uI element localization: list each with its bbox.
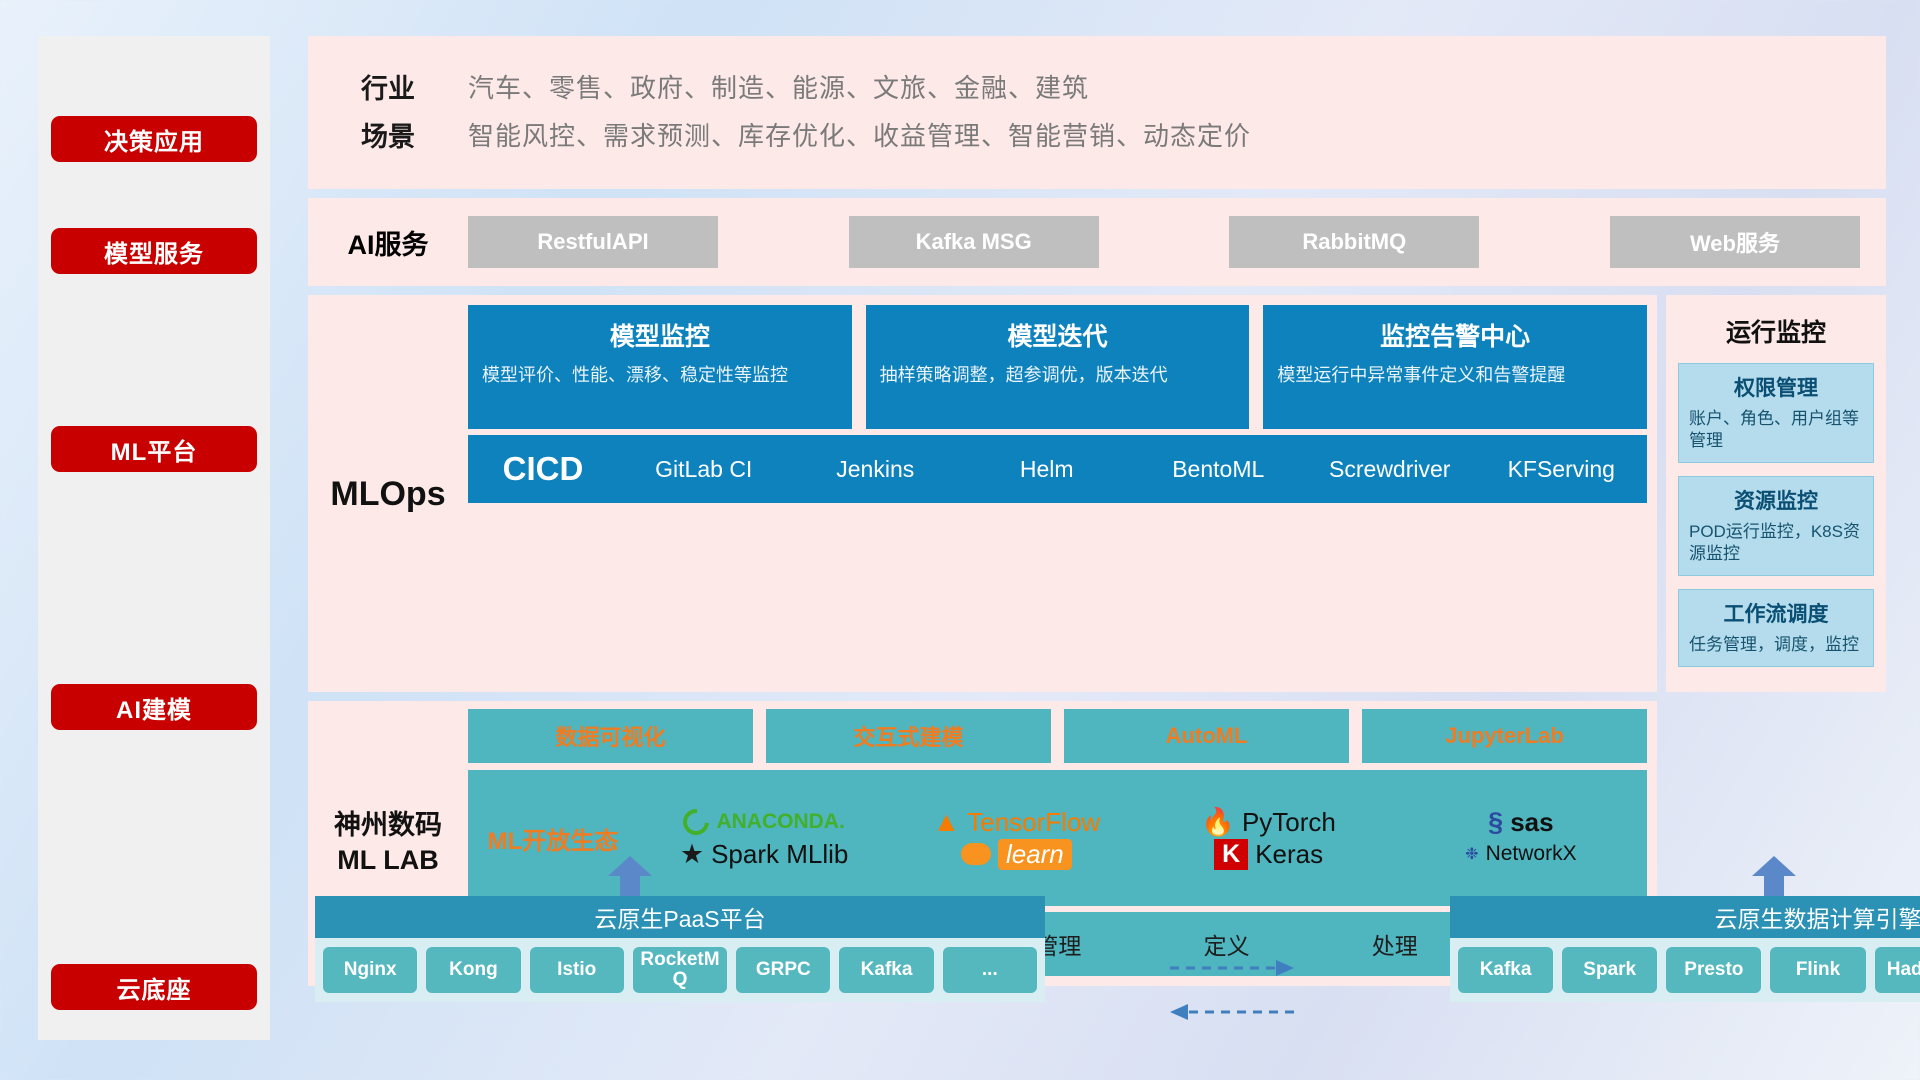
ai-service-chip[interactable]: RestfulAPI [468, 216, 718, 268]
mlops-card-desc: 抽样策略调整，超参调优，版本迭代 [880, 363, 1236, 387]
ml-ecosystem-label: ML开放生态 [468, 821, 638, 856]
layer-chip-label: ML平台 [111, 432, 198, 467]
ml-ecosystem-logo-grid: ANACONDA. ▲ TensorFlow 🔥 PyTorch § [638, 806, 1647, 870]
cicd-title: CICD [468, 450, 618, 488]
cloud-pill-kafka[interactable]: Kafka [839, 947, 933, 993]
monitor-card-desc: 账户、角色、用户组等管理 [1689, 408, 1863, 452]
anaconda-label: ANACONDA. [716, 810, 844, 834]
cloud-pill-hadoop[interactable]: Hadoop [1875, 947, 1920, 993]
ai-services-chip-list: RestfulAPI Kafka MSG RabbitMQ Web服务 [468, 216, 1886, 268]
up-arrow-icon-left [608, 856, 652, 898]
monitor-card-title: 资源监控 [1689, 485, 1863, 515]
mlops-band: MLOps 模型监控 模型评价、性能、漂移、稳定性等监控 模型迭代 抽样策略调整… [308, 295, 1657, 692]
decision-applications-band: 行业 汽车、零售、政府、制造、能源、文旅、金融、建筑 场景 智能风控、需求预测、… [308, 36, 1886, 189]
cicd-item[interactable]: Jenkins [790, 457, 962, 481]
tool-chip-automl[interactable]: AutoML [1064, 709, 1349, 763]
mlops-card-title: 监控告警中心 [1277, 317, 1633, 353]
cloud-data-engine-pill-list: Kafka Spark Presto Flink Hadoop Storm ..… [1450, 938, 1920, 1002]
mlops-label: MLOps [308, 305, 468, 684]
sas-label: sas [1510, 807, 1553, 838]
layer-chip-ml-platform[interactable]: ML平台 [51, 426, 257, 472]
mlops-card-model-monitoring[interactable]: 模型监控 模型评价、性能、漂移、稳定性等监控 [468, 305, 852, 429]
tensorflow-label: TensorFlow [967, 807, 1100, 838]
tool-chip-jupyterlab[interactable]: JupyterLab [1362, 709, 1647, 763]
bidirectional-dashed-arrows-icon [1168, 954, 1296, 1024]
monitor-card-desc: POD运行监控，K8S资源监控 [1689, 521, 1863, 565]
ai-service-chip[interactable]: Web服务 [1610, 216, 1860, 268]
mlops-card-alert-center[interactable]: 监控告警中心 模型运行中异常事件定义和告警提醒 [1263, 305, 1647, 429]
cloud-pill-spark[interactable]: Spark [1562, 947, 1657, 993]
cloud-paas-block: 云原生PaaS平台 Nginx Kong Istio RocketMQ GRPC… [315, 896, 1045, 1002]
cloud-pill-grpc[interactable]: GRPC [736, 947, 830, 993]
ai-service-chip[interactable]: RabbitMQ [1229, 216, 1479, 268]
cloud-data-engine-title: 云原生数据计算引擎 [1450, 896, 1920, 938]
mlops-row: MLOps 模型监控 模型评价、性能、漂移、稳定性等监控 模型迭代 抽样策略调整… [308, 295, 1886, 692]
cloud-pill-flink[interactable]: Flink [1770, 947, 1865, 993]
pytorch-logo[interactable]: 🔥 PyTorch [1143, 806, 1395, 838]
cloud-pill-rocketmq[interactable]: RocketMQ [633, 947, 727, 993]
monitor-card-desc: 任务管理，调度，监控 [1689, 634, 1863, 656]
industry-row: 行业 汽车、零售、政府、制造、能源、文旅、金融、建筑 [308, 67, 1886, 106]
layer-chip-label: 云底座 [117, 970, 192, 1005]
architecture-main: 行业 汽车、零售、政府、制造、能源、文旅、金融、建筑 场景 智能风控、需求预测、… [308, 36, 1886, 986]
cloud-pill-istio[interactable]: Istio [530, 947, 624, 993]
layer-chip-decision-apps[interactable]: 决策应用 [51, 116, 257, 162]
tool-chip-interactive-modeling[interactable]: 交互式建模 [766, 709, 1051, 763]
mlops-content: 模型监控 模型评价、性能、漂移、稳定性等监控 模型迭代 抽样策略调整，超参调优，… [468, 305, 1657, 684]
scenario-label: 场景 [308, 115, 468, 154]
tool-chip-data-visualization[interactable]: 数据可视化 [468, 709, 753, 763]
industry-list: 汽车、零售、政府、制造、能源、文旅、金融、建筑 [468, 68, 1089, 105]
layer-rail: 决策应用 模型服务 ML平台 AI建模 云底座 [38, 36, 270, 1040]
monitor-card-title: 工作流调度 [1689, 598, 1863, 628]
monitor-card-title: 权限管理 [1689, 372, 1863, 402]
tensorflow-logo[interactable]: ▲ TensorFlow [890, 806, 1142, 838]
cloud-paas-title: 云原生PaaS平台 [315, 896, 1045, 938]
cicd-item[interactable]: BentoML [1133, 457, 1305, 481]
cicd-item[interactable]: Helm [961, 457, 1133, 481]
cicd-item[interactable]: KFServing [1476, 457, 1648, 481]
pytorch-label: PyTorch [1242, 807, 1336, 838]
monitor-card-workflow[interactable]: 工作流调度 任务管理，调度，监控 [1678, 589, 1874, 667]
mlops-card-title: 模型迭代 [880, 317, 1236, 353]
mlops-card-list: 模型监控 模型评价、性能、漂移、稳定性等监控 模型迭代 抽样策略调整，超参调优，… [468, 305, 1647, 429]
mlops-card-model-iteration[interactable]: 模型迭代 抽样策略调整，超参调优，版本迭代 [866, 305, 1250, 429]
cloud-data-engine-block: 云原生数据计算引擎 Kafka Spark Presto Flink Hadoo… [1450, 896, 1920, 1002]
ai-service-chip[interactable]: Kafka MSG [849, 216, 1099, 268]
cloud-pill-presto[interactable]: Presto [1666, 947, 1761, 993]
monitor-card-permissions[interactable]: 权限管理 账户、角色、用户组等管理 [1678, 363, 1874, 463]
ai-services-label: AI服务 [308, 223, 468, 262]
modeling-tool-list: 数据可视化 交互式建模 AutoML JupyterLab [468, 709, 1647, 763]
scenario-row: 场景 智能风控、需求预测、库存优化、收益管理、智能营销、动态定价 [308, 115, 1886, 154]
runtime-monitoring-title: 运行监控 [1678, 313, 1874, 349]
cicd-bar: CICD GitLab CI Jenkins Helm BentoML Scre… [468, 435, 1647, 503]
cloud-foundation-section: 云原生PaaS平台 Nginx Kong Istio RocketMQ GRPC… [308, 862, 1886, 1040]
layer-chip-model-service[interactable]: 模型服务 [51, 228, 257, 274]
tensorflow-icon: ▲ [933, 806, 961, 838]
layer-chip-label: 决策应用 [104, 122, 204, 157]
cloud-paas-pill-list: Nginx Kong Istio RocketMQ GRPC Kafka ... [315, 938, 1045, 1002]
monitor-card-resources[interactable]: 资源监控 POD运行监控，K8S资源监控 [1678, 476, 1874, 576]
anaconda-logo[interactable]: ANACONDA. [638, 809, 890, 835]
cloud-pill-more[interactable]: ... [943, 947, 1037, 993]
mlops-card-title: 模型监控 [482, 317, 838, 353]
pytorch-icon: 🔥 [1201, 806, 1235, 838]
layer-chip-label: 模型服务 [104, 234, 204, 269]
cicd-item[interactable]: GitLab CI [618, 457, 790, 481]
cloud-pill-nginx[interactable]: Nginx [323, 947, 417, 993]
runtime-monitoring-panel: 运行监控 权限管理 账户、角色、用户组等管理 资源监控 POD运行监控，K8S资… [1666, 295, 1886, 692]
scenario-list: 智能风控、需求预测、库存优化、收益管理、智能营销、动态定价 [468, 116, 1251, 153]
industry-label: 行业 [308, 67, 468, 106]
mlops-card-desc: 模型评价、性能、漂移、稳定性等监控 [482, 363, 838, 387]
ai-services-band: AI服务 RestfulAPI Kafka MSG RabbitMQ Web服务 [308, 198, 1886, 286]
layer-chip-ai-modeling[interactable]: AI建模 [51, 684, 257, 730]
ml-lab-label-line1: 神州数码 [334, 808, 442, 843]
mlops-card-desc: 模型运行中异常事件定义和告警提醒 [1277, 363, 1633, 387]
sas-icon: § [1488, 807, 1503, 838]
layer-chip-cloud-base[interactable]: 云底座 [51, 964, 257, 1010]
layer-chip-label: AI建模 [116, 690, 192, 725]
anaconda-icon [678, 804, 715, 841]
cloud-pill-kong[interactable]: Kong [426, 947, 520, 993]
cicd-item[interactable]: Screwdriver [1304, 457, 1476, 481]
sas-logo[interactable]: § sas [1395, 807, 1647, 838]
cloud-pill-kafka[interactable]: Kafka [1458, 947, 1553, 993]
up-arrow-icon-right [1752, 856, 1796, 898]
